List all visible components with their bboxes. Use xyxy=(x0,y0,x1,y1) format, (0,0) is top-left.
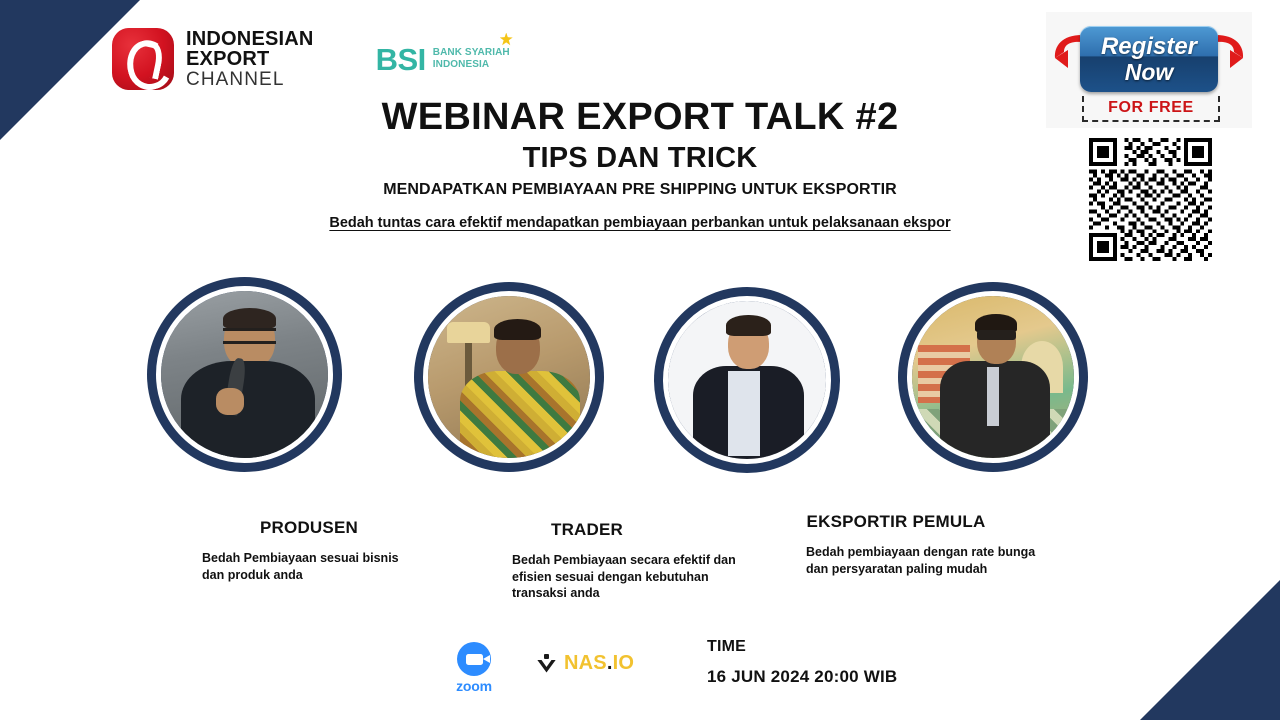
page-description: MENDAPATKAN PEMBIAYAAN PRE SHIPPING UNTU… xyxy=(0,181,1280,199)
logo-row: INDONESIAN EXPORT CHANNEL BSI BANK SYARI… xyxy=(112,28,510,90)
zoom-logo: zoom xyxy=(447,642,501,694)
nasio-wordmark: NAS.IO xyxy=(564,652,634,675)
video-camera-icon xyxy=(457,642,491,676)
nasio-name: NAS xyxy=(564,652,607,674)
speaker-photo-2-frame xyxy=(423,291,595,463)
role-block-eksportir-pemula: EKSPORTIR PEMULA Bedah pembiayaan dengan… xyxy=(806,512,1056,577)
iec-logo-icon xyxy=(112,28,174,90)
zoom-label: zoom xyxy=(456,678,492,694)
iec-line-1: INDONESIAN xyxy=(186,29,314,49)
speaker-photo-3-image xyxy=(668,301,826,459)
star-icon xyxy=(500,33,513,46)
speaker-photo-2-image xyxy=(428,296,590,458)
time-value: 16 JUN 2024 20:00 WIB xyxy=(707,667,897,687)
iec-logo-text: INDONESIAN EXPORT CHANNEL xyxy=(186,29,314,89)
nasio-logo: NAS.IO xyxy=(537,652,634,675)
chevron-down-icon xyxy=(537,654,556,674)
speaker-photo-3 xyxy=(654,287,840,473)
role-title-produsen: PRODUSEN xyxy=(194,518,424,538)
webinar-poster: INDONESIAN EXPORT CHANNEL BSI BANK SYARI… xyxy=(0,0,1280,720)
page-tagline: Bedah tuntas cara efektif mendapatkan pe… xyxy=(0,215,1280,231)
role-desc-produsen: Bedah Pembiayaan sesuai bisnis dan produ… xyxy=(194,550,424,583)
role-block-produsen: PRODUSEN Bedah Pembiayaan sesuai bisnis … xyxy=(194,518,424,583)
indonesian-export-channel-logo: INDONESIAN EXPORT CHANNEL xyxy=(112,28,314,90)
bsi-wordmark: BSI xyxy=(376,44,426,75)
speaker-photo-2 xyxy=(414,282,604,472)
role-title-trader: TRADER xyxy=(512,520,662,540)
role-desc-eksportir-pemula: Bedah pembiayaan dengan rate bunga dan p… xyxy=(806,544,1056,577)
iec-line-3: CHANNEL xyxy=(186,70,314,89)
speaker-photo-4 xyxy=(898,282,1088,472)
speaker-photo-4-frame xyxy=(907,291,1079,463)
register-label-line-1: Register xyxy=(1101,35,1197,59)
role-block-trader: TRADER Bedah Pembiayaan secara efektif d… xyxy=(512,520,752,602)
page-title: WEBINAR EXPORT TALK #2 xyxy=(0,96,1280,139)
corner-decoration-bottom-right xyxy=(1140,580,1280,720)
bsi-logo: BSI BANK SYARIAH INDONESIA xyxy=(376,44,510,75)
bsi-sub-line-1: BANK SYARIAH xyxy=(433,47,510,59)
register-label-line-2: Now xyxy=(1125,61,1174,84)
page-subtitle: TIPS DAN TRICK xyxy=(0,142,1280,175)
bsi-subtext: BANK SYARIAH INDONESIA xyxy=(433,47,510,74)
speaker-photo-4-image xyxy=(912,296,1074,458)
nasio-io: IO xyxy=(613,652,635,674)
speaker-photo-1-frame xyxy=(156,286,333,463)
bsi-sub-line-2: INDONESIA xyxy=(433,59,510,71)
time-label: TIME xyxy=(707,638,897,656)
role-title-eksportir-pemula: EKSPORTIR PEMULA xyxy=(806,512,986,532)
speaker-photo-3-frame xyxy=(663,296,831,464)
speaker-photo-1-image xyxy=(161,291,328,458)
role-desc-trader: Bedah Pembiayaan secara efektif dan efis… xyxy=(512,552,752,602)
register-now-button[interactable]: Register Now xyxy=(1080,26,1218,92)
speaker-photo-1 xyxy=(147,277,342,472)
time-block: TIME 16 JUN 2024 20:00 WIB xyxy=(707,638,897,687)
iec-line-2: EXPORT xyxy=(186,49,314,69)
